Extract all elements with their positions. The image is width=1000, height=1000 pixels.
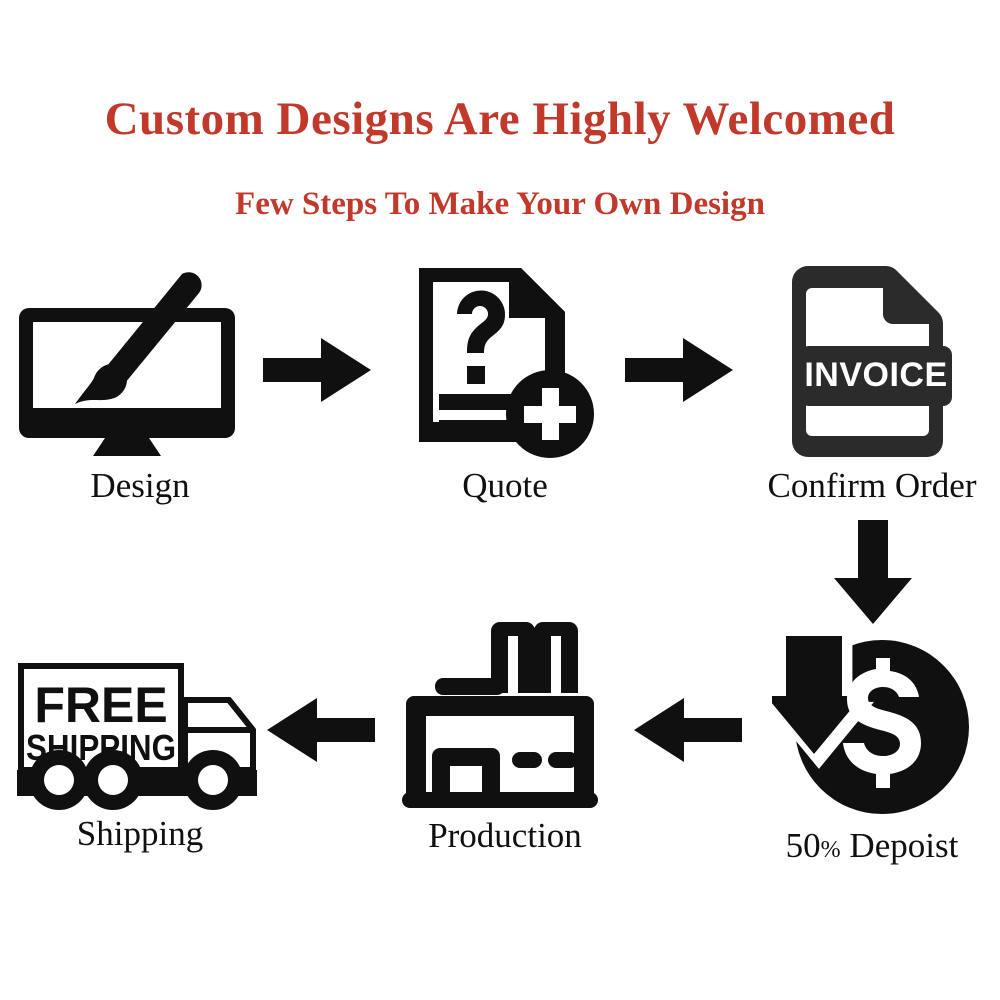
deposit-word: Depoist <box>841 826 959 865</box>
step-deposit: 50% Depoist <box>742 622 1000 863</box>
step-deposit-label: 50% Depoist <box>786 828 959 863</box>
deposit-number: 50 <box>786 826 821 865</box>
step-shipping-label: Shipping <box>77 816 203 851</box>
step-confirm-order-label: Confirm Order <box>768 468 977 503</box>
infographic-canvas: Custom Designs Are Highly Welcomed Few S… <box>0 0 1000 1000</box>
invoice-document-icon: INVOICE <box>772 262 972 462</box>
step-design-label: Design <box>90 468 189 503</box>
step-production: Production <box>375 612 635 853</box>
arrow-left-deposit-to-production <box>632 695 742 765</box>
document-question-plus-icon <box>405 262 605 462</box>
arrow-left-production-to-shipping <box>265 695 375 765</box>
page-subtitle: Few Steps To Make Your Own Design <box>0 188 1000 221</box>
delivery-truck-icon: FREE SHIPPING <box>15 660 265 810</box>
step-quote-label: Quote <box>462 468 548 503</box>
step-shipping: FREE SHIPPING Shipping <box>10 660 270 851</box>
free-text: FREE <box>34 677 167 733</box>
step-production-label: Production <box>428 818 582 853</box>
monitor-paintbrush-icon <box>15 272 265 462</box>
page-title: Custom Designs Are Highly Welcomed <box>0 96 1000 143</box>
step-confirm-order: INVOICE Confirm Order <box>742 262 1000 503</box>
invoice-label: INVOICE <box>804 356 947 394</box>
dollar-circle-down-arrow-icon <box>772 622 972 822</box>
deposit-percent-symbol: % <box>821 837 841 863</box>
factory-icon <box>400 612 610 812</box>
arrow-right-quote-to-confirm <box>625 335 735 405</box>
arrow-down-confirm-to-deposit <box>830 520 915 625</box>
step-design: Design <box>10 272 270 503</box>
arrow-right-design-to-quote <box>263 335 373 405</box>
step-quote: Quote <box>375 262 635 503</box>
